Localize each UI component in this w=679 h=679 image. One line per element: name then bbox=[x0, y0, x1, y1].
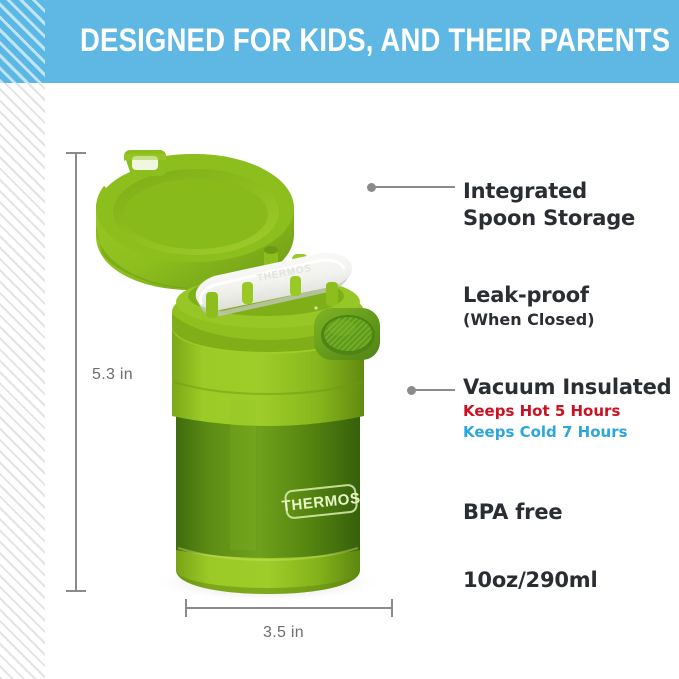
callout-keeps-hot: Keeps Hot 5 Hours bbox=[463, 401, 672, 422]
callout-capacity: 10oz/290ml bbox=[463, 567, 597, 594]
leader-stroke bbox=[375, 186, 455, 188]
decorative-stripe-band-blue bbox=[0, 0, 45, 83]
infographic-page: DESIGNED FOR KIDS, AND THEIR PARENTS 5.3… bbox=[0, 0, 679, 679]
leader-line-spoon-storage bbox=[367, 180, 455, 192]
height-dimension-line bbox=[75, 152, 77, 592]
callout-line2: Spoon Storage bbox=[463, 205, 635, 232]
callout-line1: Leak-proof bbox=[463, 282, 595, 309]
callout-line1: 10oz/290ml bbox=[463, 567, 597, 594]
callout-line1: Integrated bbox=[463, 178, 635, 205]
callout-line1: BPA free bbox=[463, 499, 562, 526]
callout-list: Integrated Spoon Storage Leak-proof (Whe… bbox=[463, 0, 679, 679]
width-dimension-label: 3.5 in bbox=[263, 624, 304, 642]
callout-keeps-cold: Keeps Cold 7 Hours bbox=[463, 422, 672, 443]
callout-integrated-spoon-storage: Integrated Spoon Storage bbox=[463, 178, 635, 232]
leader-stroke bbox=[415, 389, 455, 391]
callout-vacuum-insulated: Vacuum Insulated Keeps Hot 5 Hours Keeps… bbox=[463, 374, 672, 443]
callout-subtext: (When Closed) bbox=[463, 309, 595, 331]
product-illustration: THERMOS THERMOS bbox=[80, 130, 420, 610]
latch-button bbox=[314, 308, 380, 360]
leader-line-vacuum-insulated bbox=[407, 383, 455, 395]
callout-leak-proof: Leak-proof (When Closed) bbox=[463, 282, 595, 331]
decorative-stripe-band bbox=[0, 0, 45, 679]
callout-line1: Vacuum Insulated bbox=[463, 374, 672, 401]
callout-bpa-free: BPA free bbox=[463, 499, 562, 526]
